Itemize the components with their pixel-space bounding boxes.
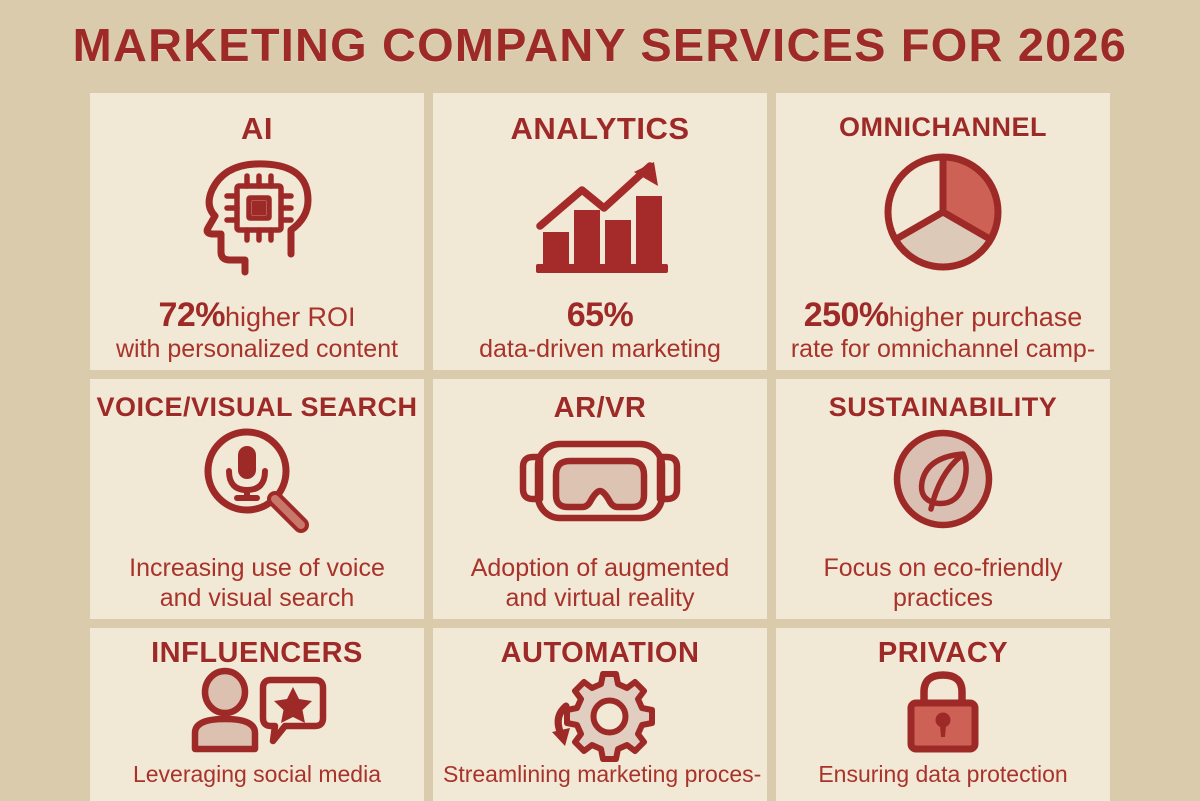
description-line-1: Increasing use of voice xyxy=(100,553,414,583)
stat-block-omnichannel: 250%higher purchase rate for omnichannel… xyxy=(786,296,1100,370)
vr-headset-icon xyxy=(514,427,686,535)
stat-block-voice-visual-search: Increasing use of voice and visual searc… xyxy=(100,553,414,619)
card-description-voice-visual-search: Increasing use of voice and visual searc… xyxy=(100,553,414,613)
card-privacy[interactable]: PRIVACY Ensuring data protection xyxy=(776,628,1110,801)
card-description-privacy: Ensuring data protection xyxy=(786,761,1100,789)
card-automation[interactable]: AUTOMATION Streamlining marketing proces… xyxy=(433,628,767,801)
infographic-poster: MARKETING COMPANY SERVICES FOR 2026 AI xyxy=(0,0,1200,800)
description-line-2: and virtual reality xyxy=(443,583,757,613)
card-ai[interactable]: AI xyxy=(90,93,424,370)
pie-chart-icon xyxy=(881,147,1005,277)
stat-value-analytics: 65% xyxy=(567,296,634,334)
card-description-sustainability: Focus on eco-friendly practices xyxy=(786,553,1100,613)
stat-block-sustainability: Focus on eco-friendly practices xyxy=(786,553,1100,619)
card-title-omnichannel: OMNICHANNEL xyxy=(839,113,1047,141)
card-title-voice-visual-search: VOICE/VISUAL SEARCH xyxy=(96,393,417,421)
person-star-bubble-icon xyxy=(187,670,327,752)
stat-line-analytics: 65% xyxy=(443,296,757,334)
description-line-1: Adoption of augmented xyxy=(443,553,757,583)
card-title-influencers: INFLUENCERS xyxy=(151,638,363,668)
description-line-2: and visual search xyxy=(100,583,414,613)
card-title-ar-vr: AR/VR xyxy=(554,393,647,423)
gear-arrow-icon xyxy=(546,670,654,752)
stat-value-omnichannel: 250% xyxy=(804,296,889,334)
stat-line-omnichannel: 250%higher purchase xyxy=(786,296,1100,334)
head-with-chip-icon xyxy=(195,152,320,282)
card-title-ai: AI xyxy=(241,113,273,146)
title-bar: MARKETING COMPANY SERVICES FOR 2026 xyxy=(0,14,1200,76)
stat-block-privacy: Ensuring data protection xyxy=(786,761,1100,801)
card-title-analytics: ANALYTICS xyxy=(510,113,689,146)
card-analytics[interactable]: ANALYTICS xyxy=(433,93,767,370)
card-description-omnichannel: rate for omnichannel camp- xyxy=(786,334,1100,364)
description-line-2: practices xyxy=(786,583,1100,613)
card-ar-vr[interactable]: AR/VR Adoption of augmented and virtual … xyxy=(433,379,767,619)
description-line-1: Focus on eco-friendly xyxy=(786,553,1100,583)
magnifier-microphone-icon xyxy=(201,425,313,533)
stat-label-omnichannel: higher purchase xyxy=(889,302,1083,332)
card-title-privacy: PRIVACY xyxy=(878,638,1008,668)
card-description-analytics: data-driven marketing xyxy=(443,334,757,364)
card-influencers[interactable]: INFLUENCERS Leveraging social media xyxy=(90,628,424,801)
card-sustainability[interactable]: SUSTAINABILITY Focus on eco-friendly pra… xyxy=(776,379,1110,619)
stat-block-analytics: 65% data-driven marketing xyxy=(443,296,757,370)
card-voice-visual-search[interactable]: VOICE/VISUAL SEARCH xyxy=(90,379,424,619)
stat-label-ai: higher ROI xyxy=(225,302,356,332)
stat-line-ai: 72%higher ROI xyxy=(100,296,414,334)
services-grid: AI xyxy=(90,93,1110,783)
padlock-icon xyxy=(902,670,984,752)
card-title-automation: AUTOMATION xyxy=(501,638,700,668)
card-description-ai: with personalized content xyxy=(100,334,414,364)
growth-bar-chart-icon xyxy=(530,152,670,282)
card-title-sustainability: SUSTAINABILITY xyxy=(829,393,1058,421)
leaf-circle-icon xyxy=(891,425,995,533)
card-omnichannel[interactable]: OMNICHANNEL 250%higher purchase rate for… xyxy=(776,93,1110,370)
card-description-automation: Streamlining marketing proces- xyxy=(443,761,757,789)
stat-block-ai: 72%higher ROI with personalized content xyxy=(100,296,414,370)
stat-block-ar-vr: Adoption of augmented and virtual realit… xyxy=(443,553,757,619)
stat-block-automation: Streamlining marketing proces- xyxy=(443,761,757,801)
stat-value-ai: 72% xyxy=(158,296,225,334)
stat-block-influencers: Leveraging social media xyxy=(100,761,414,801)
card-description-ar-vr: Adoption of augmented and virtual realit… xyxy=(443,553,757,613)
page-title: MARKETING COMPANY SERVICES FOR 2026 xyxy=(73,18,1127,72)
card-description-influencers: Leveraging social media xyxy=(100,761,414,789)
